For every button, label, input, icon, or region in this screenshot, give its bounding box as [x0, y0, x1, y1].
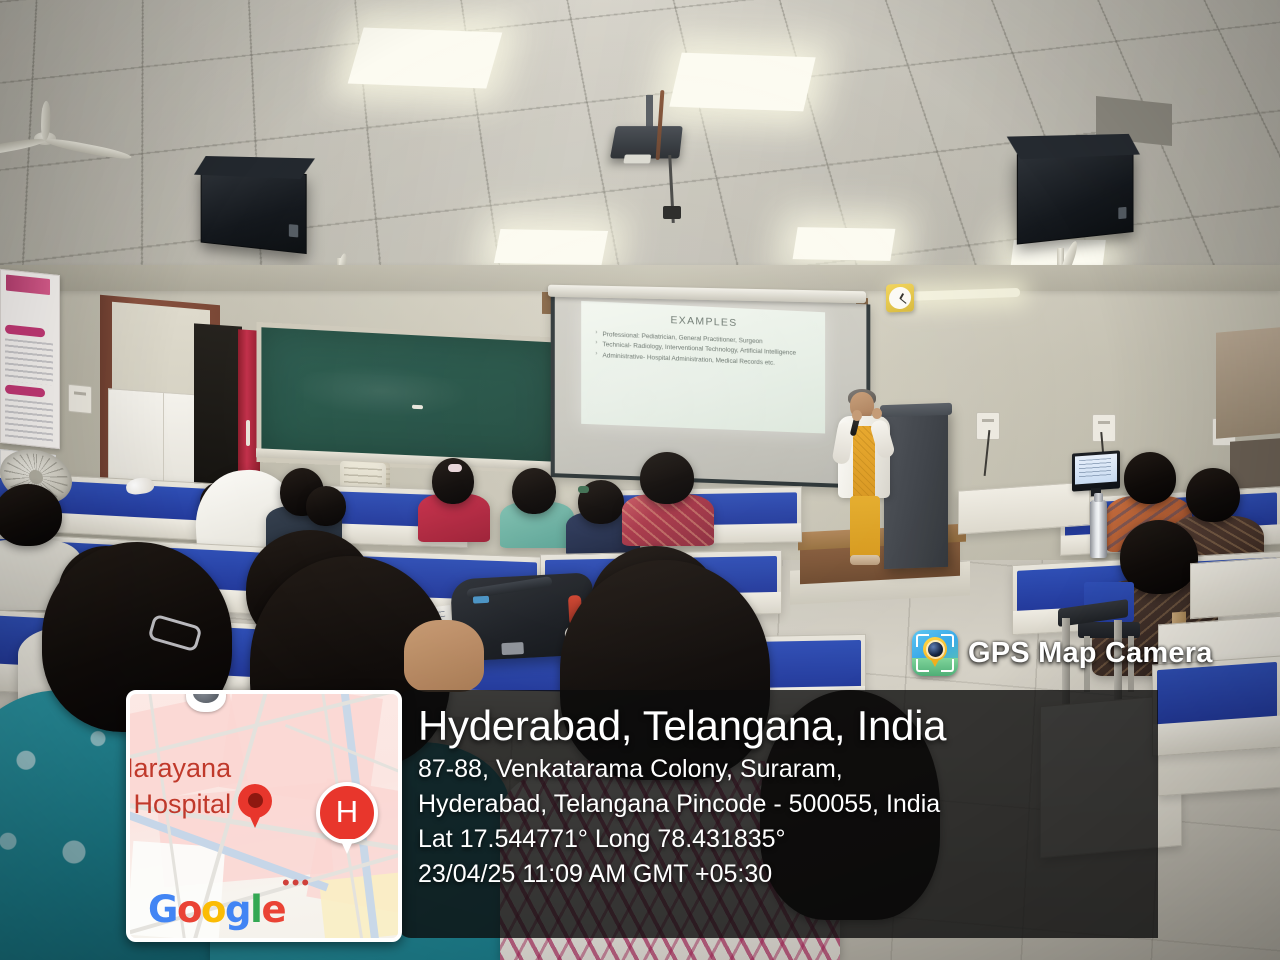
slide-title: EXAMPLES: [581, 310, 825, 333]
smoke-detector-icon: [1196, 88, 1208, 95]
chalk-piece[interactable]: [412, 405, 423, 410]
slide-bullet-list: Professional: Pediatrician, General Prac…: [595, 330, 811, 371]
projector-lens-icon: [623, 155, 651, 164]
presenter-kurta: [853, 426, 875, 502]
presenter-sandals: [850, 555, 880, 565]
door-handle[interactable]: [246, 420, 250, 446]
audience-head: [306, 486, 346, 526]
gps-info-text: Hyderabad, Telangana, India 87-88, Venka…: [418, 700, 1148, 892]
map-place-label-line-1: dy Narayana: [126, 750, 308, 786]
poster-heading-bar: [5, 324, 45, 337]
cable-junction-box: [663, 206, 681, 219]
audience-head: [0, 484, 62, 546]
presenter-hand-right: [872, 408, 882, 419]
speaker-badge: [289, 224, 298, 237]
fan-blade: [0, 136, 46, 160]
marker-inner: [193, 690, 219, 703]
ceiling-speaker: [201, 170, 307, 254]
side-desk: [958, 481, 1090, 534]
presenter: [836, 392, 892, 574]
side-desk: [1190, 557, 1280, 619]
projector-mount: [646, 95, 653, 129]
google-logo-o2: o: [201, 888, 225, 931]
icon-bracket-top-right: [941, 634, 954, 647]
map-more-dots: •••: [282, 870, 311, 896]
gps-coordinates: Lat 17.544771° Long 78.431835°: [418, 822, 1148, 857]
poster-heading-bar: [5, 384, 45, 397]
ceiling-projector: [610, 126, 683, 158]
presenter-trousers: [850, 496, 880, 558]
google-logo-g2: g: [225, 888, 250, 931]
gps-address-line-1: 87-88, Venkatarama Colony, Suraram,: [418, 752, 1148, 787]
pin-center-dot: [248, 793, 263, 808]
icon-camera-lens: [928, 642, 943, 657]
hospital-marker-icon[interactable]: H: [316, 782, 378, 844]
presenter-hand-left: [852, 410, 862, 421]
icon-bracket-bottom-right: [941, 659, 954, 672]
clock-minute-hand: [900, 298, 907, 304]
google-logo-l: l: [250, 888, 261, 931]
monitor-screen: [1075, 454, 1117, 485]
gps-app-name: GPS Map Camera: [968, 637, 1213, 670]
audience-head: [1124, 452, 1176, 504]
google-logo-e: e: [261, 888, 285, 931]
icon-bracket-bottom-left: [916, 659, 929, 672]
google-logo-g1: G: [148, 888, 177, 931]
icon-bracket-top-left: [916, 634, 929, 647]
speaker-badge: [1118, 207, 1126, 219]
screenshot-root: EXAMPLES Professional: Pediatrician, Gen…: [0, 0, 1280, 960]
ceiling-light-panel: [348, 28, 503, 89]
ceiling-light-panel: [793, 227, 896, 261]
ceiling-light-panel: [669, 53, 815, 112]
wall-socket[interactable]: [1092, 414, 1116, 442]
map-thumbnail[interactable]: dy Narayana ality Hospital H ••• Google: [126, 690, 402, 942]
hair-clip: [578, 486, 589, 493]
projection-screen: EXAMPLES Professional: Pediatrician, Gen…: [551, 289, 871, 488]
map-place-label-line-2: ality Hospital: [126, 786, 308, 822]
clock-face: [889, 287, 911, 310]
backpack-buckle: [501, 642, 524, 655]
gps-address-line-2: Hyderabad, Telangana Pincode - 500055, I…: [418, 787, 1148, 822]
audience-head: [512, 468, 556, 514]
water-bottle[interactable]: [1090, 500, 1107, 558]
audience-arm: [404, 620, 484, 692]
map-location-pin[interactable]: [238, 784, 272, 818]
google-logo-o1: o: [177, 888, 201, 931]
podium: [884, 407, 948, 569]
wall-socket[interactable]: [68, 384, 92, 415]
google-logo: Google: [148, 891, 285, 928]
wall-clock: [886, 284, 914, 313]
poster-logo: [6, 274, 50, 295]
backpack-tag: [473, 596, 489, 604]
poster-text-block: [5, 338, 53, 385]
map-place-label: dy Narayana ality Hospital: [126, 750, 308, 822]
ceiling-fan: [0, 108, 100, 168]
ceiling-light-panel: [494, 229, 608, 265]
wall-poster: [0, 269, 60, 449]
hair-clip: [448, 464, 462, 472]
audience-head: [1186, 468, 1240, 522]
audience-head: [640, 452, 694, 504]
desktop-monitor[interactable]: [1072, 450, 1120, 491]
gps-map-camera-badge: GPS Map Camera: [912, 630, 1213, 676]
right-wall-cabinet: [1216, 327, 1280, 439]
gps-map-camera-icon: [912, 630, 958, 676]
poster-text-block: [5, 398, 53, 443]
ceiling-speaker: [1017, 150, 1134, 245]
gps-city-line: Hyderabad, Telangana, India: [418, 700, 1148, 752]
gps-timestamp: 23/04/25 11:09 AM GMT +05:30: [418, 857, 1148, 892]
presentation-slide: EXAMPLES Professional: Pediatrician, Gen…: [581, 301, 825, 434]
